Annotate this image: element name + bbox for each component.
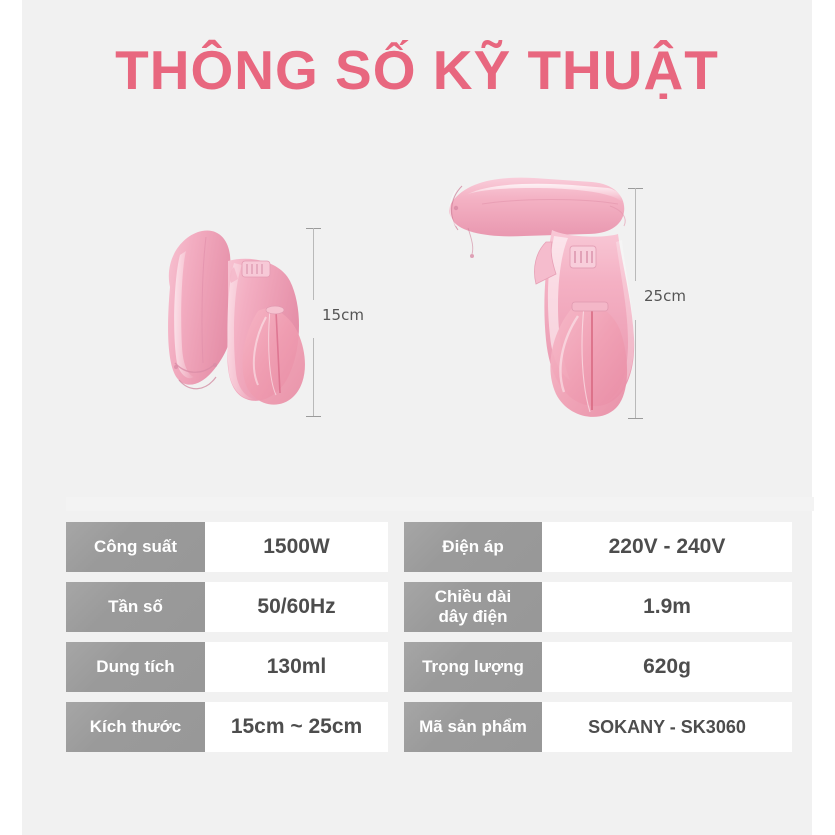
dimension-line-lower xyxy=(313,338,314,416)
spec-value-voltage: 220V - 240V xyxy=(542,522,792,572)
spec-value-cord-length: 1.9m xyxy=(542,582,792,632)
hinge-pin-right xyxy=(213,363,217,367)
nozzle-pin xyxy=(470,254,474,258)
page-title: THÔNG SỐ KỸ THUẬT xyxy=(22,40,812,101)
table-row: Dung tích 130ml Trọng lượng 620g xyxy=(66,642,814,692)
spec-cell-voltage: Điện áp 220V - 240V xyxy=(404,522,792,572)
product-spec-infographic: THÔNG SỐ KỸ THUẬT xyxy=(0,0,835,835)
product-image-folded-steamer xyxy=(130,215,330,425)
spec-label-size: Kích thước xyxy=(66,702,205,752)
dimension-cap-bottom xyxy=(306,416,321,417)
dimension-line-upper xyxy=(313,228,314,300)
spec-label-weight: Trọng lượng xyxy=(404,642,542,692)
tank-cap-large xyxy=(572,302,608,311)
tank-cap xyxy=(266,306,284,314)
spec-cell-size: Kích thước 15cm ~ 25cm xyxy=(66,702,388,752)
spec-label-capacity: Dung tích xyxy=(66,642,205,692)
table-row: Tần số 50/60Hz Chiều dài dây điện 1.9m xyxy=(66,582,814,632)
spec-label-model: Mã sản phẩm xyxy=(404,702,542,752)
dimension-line-upper xyxy=(635,188,636,281)
dimension-cap-bottom xyxy=(628,418,643,419)
spec-label-voltage: Điện áp xyxy=(404,522,542,572)
dimension-line-lower xyxy=(635,320,636,418)
spec-cell-weight: Trọng lượng 620g xyxy=(404,642,792,692)
spec-value-power: 1500W xyxy=(205,522,388,572)
spec-label-frequency: Tần số xyxy=(66,582,205,632)
spec-value-capacity: 130ml xyxy=(205,642,388,692)
dimension-marker-15cm: 15cm xyxy=(302,228,382,416)
hinge-pin-left xyxy=(174,365,178,369)
spec-cell-frequency: Tần số 50/60Hz xyxy=(66,582,388,632)
background-band xyxy=(66,497,814,511)
spec-table: Công suất 1500W Điện áp 220V - 240V Tần … xyxy=(66,522,814,752)
spec-cell-model: Mã sản phẩm SOKANY - SK3060 xyxy=(404,702,792,752)
power-switch xyxy=(242,261,270,277)
spec-cell-power: Công suất 1500W xyxy=(66,522,388,572)
spec-value-model: SOKANY - SK3060 xyxy=(542,702,792,752)
content-canvas: THÔNG SỐ KỸ THUẬT xyxy=(22,0,812,835)
hinge-pin xyxy=(454,206,458,210)
spec-value-size: 15cm ~ 25cm xyxy=(205,702,388,752)
table-row: Công suất 1500W Điện áp 220V - 240V xyxy=(66,522,814,572)
dimension-label-25cm: 25cm xyxy=(644,287,686,305)
dimension-marker-25cm: 25cm xyxy=(624,188,704,418)
spec-label-power: Công suất xyxy=(66,522,205,572)
product-image-extended-steamer xyxy=(422,160,652,425)
spec-value-weight: 620g xyxy=(542,642,792,692)
spec-cell-cord-length: Chiều dài dây điện 1.9m xyxy=(404,582,792,632)
spec-cell-capacity: Dung tích 130ml xyxy=(66,642,388,692)
table-row: Kích thước 15cm ~ 25cm Mã sản phẩm SOKAN… xyxy=(66,702,814,752)
spec-label-cord-length: Chiều dài dây điện xyxy=(404,582,542,632)
spec-value-frequency: 50/60Hz xyxy=(205,582,388,632)
dimension-label-15cm: 15cm xyxy=(322,306,364,324)
